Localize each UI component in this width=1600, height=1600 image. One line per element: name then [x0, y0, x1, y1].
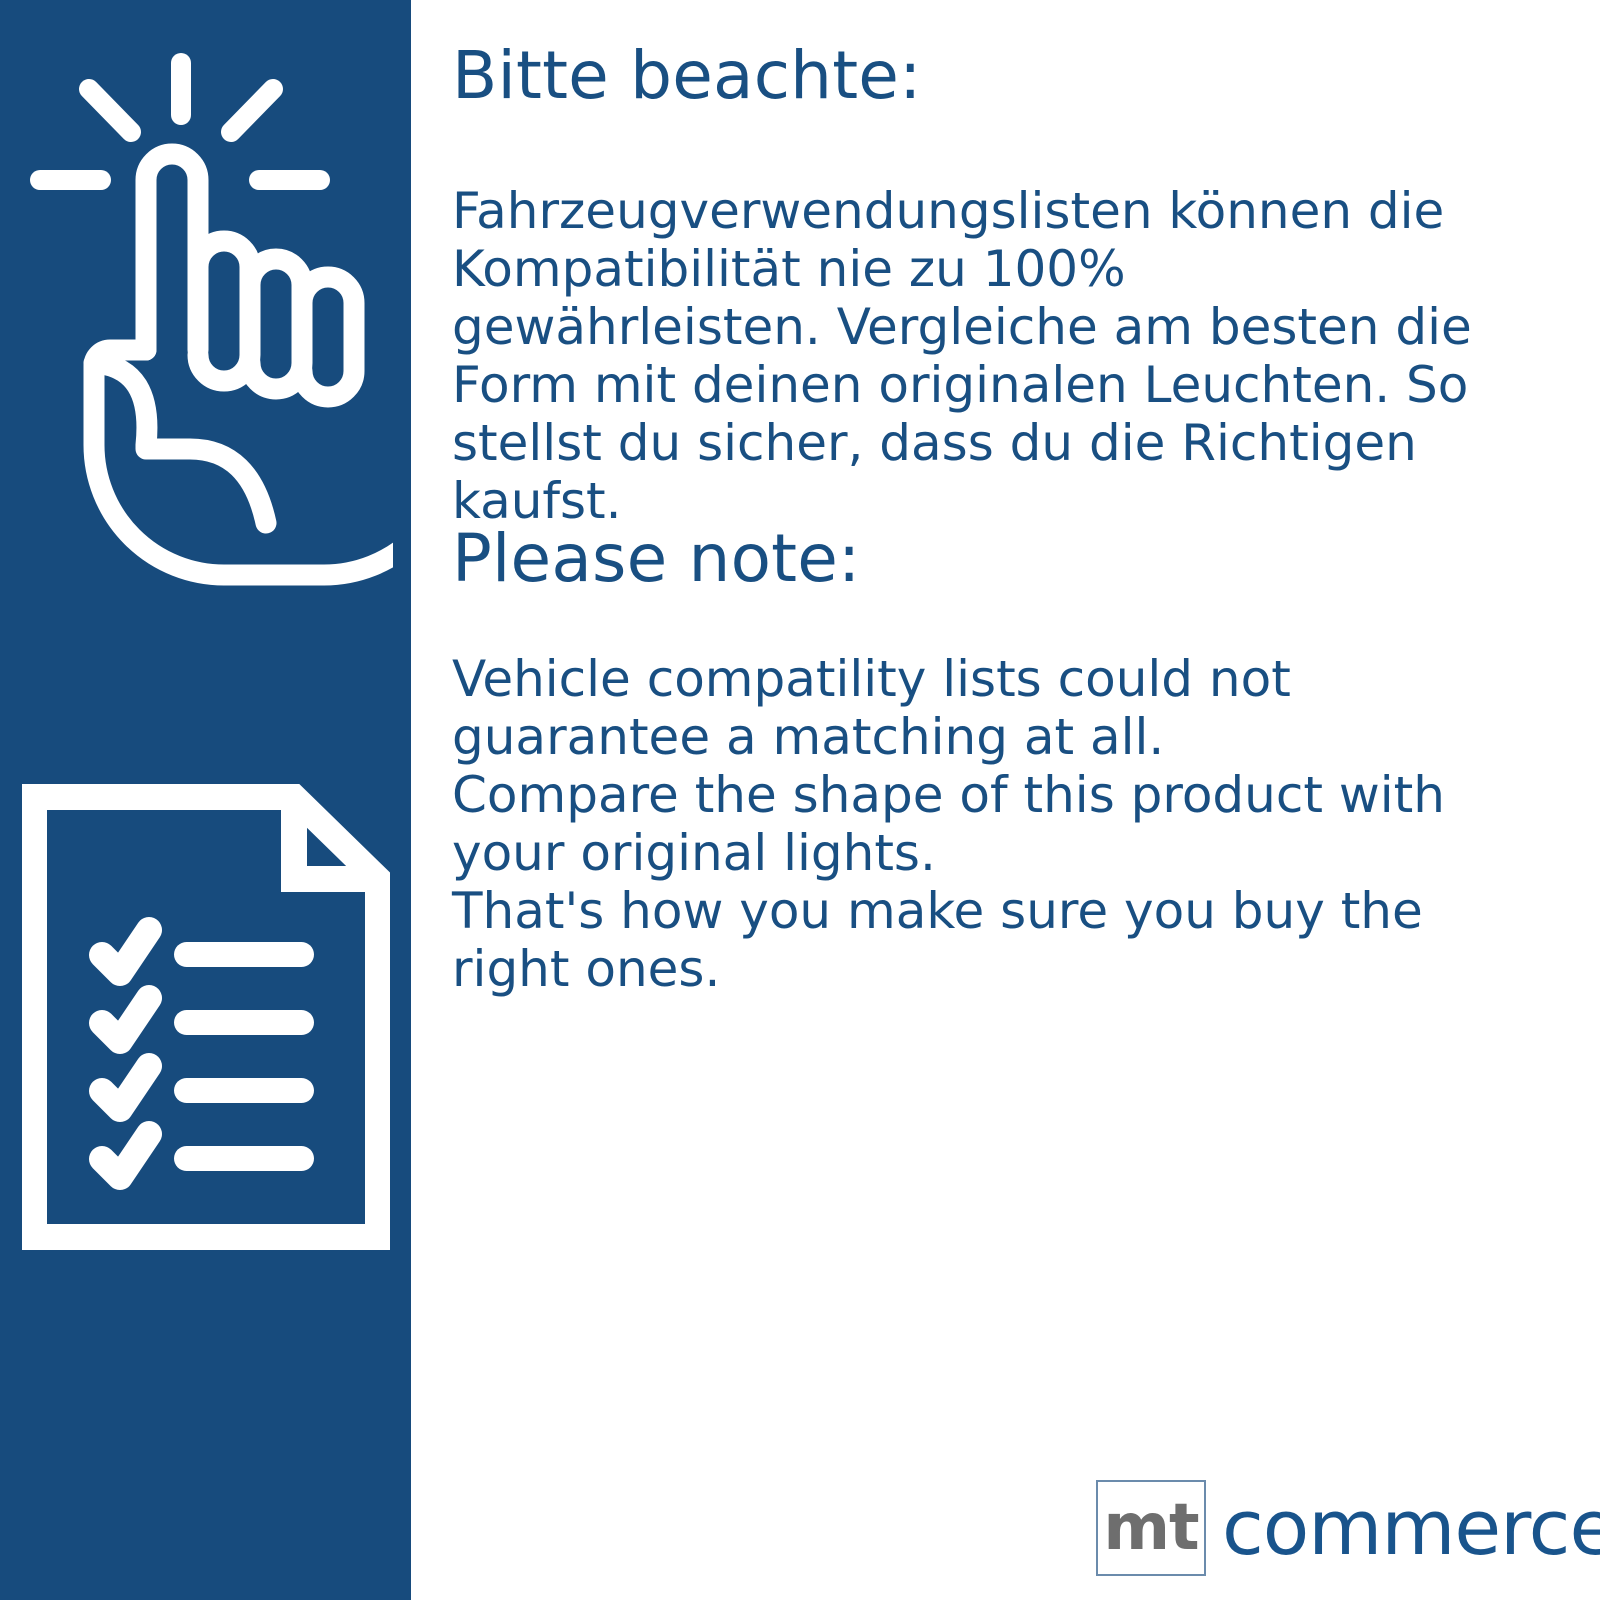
english-paragraph: Vehicle compatility lists could not guar…: [452, 650, 1462, 998]
logo-mark-box: mt: [1096, 1480, 1206, 1576]
sidebar: [0, 0, 411, 1600]
pointing-hand-click-icon: [18, 45, 393, 600]
english-heading: Please note:: [452, 523, 861, 595]
checklist-document-icon: [22, 775, 390, 1260]
logo-word-text: commerce: [1222, 1488, 1600, 1568]
infographic-page: Bitte beachte: Fahrzeugverwendungslisten…: [0, 0, 1600, 1600]
german-paragraph: Fahrzeugverwendungslisten können die Kom…: [452, 182, 1492, 530]
content-column: Bitte beachte: Fahrzeugverwendungslisten…: [452, 0, 1512, 1600]
logo-mark-text: mt: [1103, 1496, 1198, 1560]
german-heading: Bitte beachte:: [452, 40, 922, 112]
mt-commerce-logo: mt commerce: [1096, 1476, 1600, 1580]
